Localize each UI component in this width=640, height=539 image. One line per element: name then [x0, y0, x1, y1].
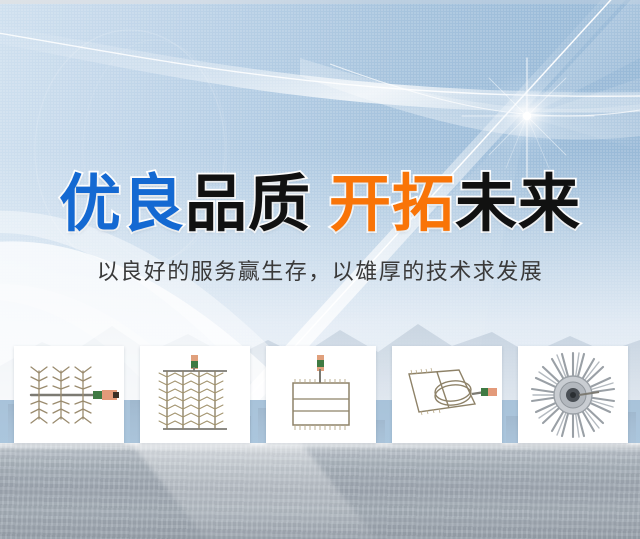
ground-surface — [0, 443, 640, 539]
page-subtitle: 以良好的服务赢生存，以雄厚的技术求发展 — [0, 258, 640, 288]
page-title: 优良品质开拓未来 — [0, 167, 640, 241]
headline-part-weilai: 未来 — [455, 167, 581, 240]
product-thumbnail-strip — [14, 346, 628, 443]
headline-part-kaituo: 开拓 — [329, 167, 455, 240]
hero-banner: 优良品质开拓未来 以良好的服务赢生存，以雄厚的技术求发展 — [0, 0, 640, 539]
headline-part-youliang: 优良 — [59, 167, 185, 240]
product-thumb-4[interactable] — [392, 346, 502, 443]
heater-panel-icon — [279, 353, 363, 437]
product-thumb-1[interactable] — [14, 346, 124, 443]
heater-comb-icon — [17, 355, 121, 435]
product-thumb-3[interactable] — [266, 346, 376, 443]
product-thumb-5[interactable] — [518, 346, 628, 443]
heater-radial-icon — [529, 351, 617, 439]
headline-part-pinzhi: 品质 — [185, 167, 311, 240]
heater-frame-coil-icon — [397, 360, 497, 430]
product-thumb-2[interactable] — [140, 346, 250, 443]
ground-highlight — [0, 443, 640, 451]
heater-multirow-icon — [149, 353, 241, 437]
top-edge-strip — [0, 0, 640, 4]
